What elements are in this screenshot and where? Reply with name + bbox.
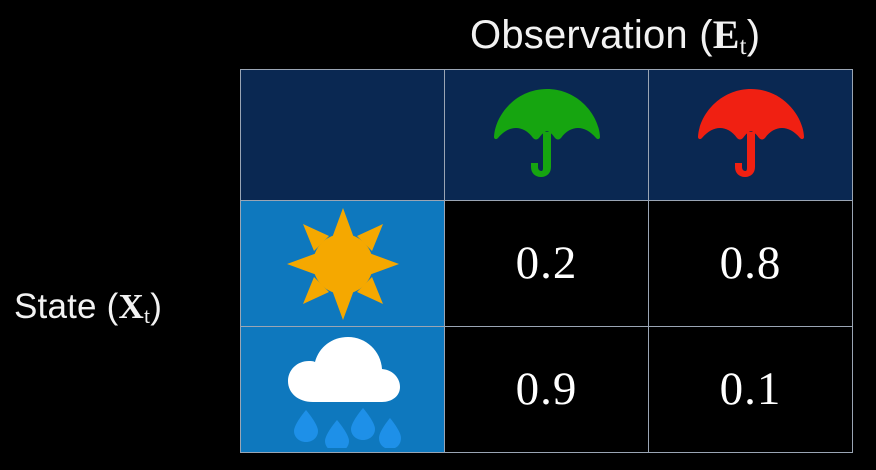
probability-cell: 0.1 [649, 327, 853, 453]
observation-caption-open-paren: ( [699, 13, 713, 57]
probability-cell: 0.8 [649, 201, 853, 327]
table-row: 0.2 0.8 [241, 201, 853, 327]
observation-caption-text: Observation [470, 13, 688, 57]
state-caption-close-paren: ) [150, 287, 162, 326]
probability-cell: 0.9 [445, 327, 649, 453]
column-header-umbrella-green [445, 70, 649, 201]
umbrella-green-icon [445, 70, 648, 200]
column-header-umbrella-red [649, 70, 853, 201]
state-variable-subscript: t [144, 304, 150, 328]
umbrella-red-icon [649, 70, 852, 200]
observation-axis-caption: Observation (Et) [470, 8, 760, 68]
rain-cloud-icon [241, 327, 444, 452]
row-header-sun [241, 201, 445, 327]
observation-variable-symbol: E [713, 12, 740, 57]
row-header-rain [241, 327, 445, 453]
state-axis-caption: State (Xt) [14, 283, 162, 335]
table-header-row [241, 70, 853, 201]
sun-icon [241, 201, 444, 326]
observation-caption-close-paren: ) [747, 13, 761, 57]
state-variable-symbol: X [119, 287, 144, 326]
table-corner-cell [241, 70, 445, 201]
state-caption-text: State [14, 287, 97, 326]
observation-variable-subscript: t [740, 33, 747, 60]
observation-probability-table: 0.2 0.8 0.9 0 [240, 69, 853, 453]
state-caption-open-paren: ( [107, 287, 119, 326]
table-row: 0.9 0.1 [241, 327, 853, 453]
probability-cell: 0.2 [445, 201, 649, 327]
